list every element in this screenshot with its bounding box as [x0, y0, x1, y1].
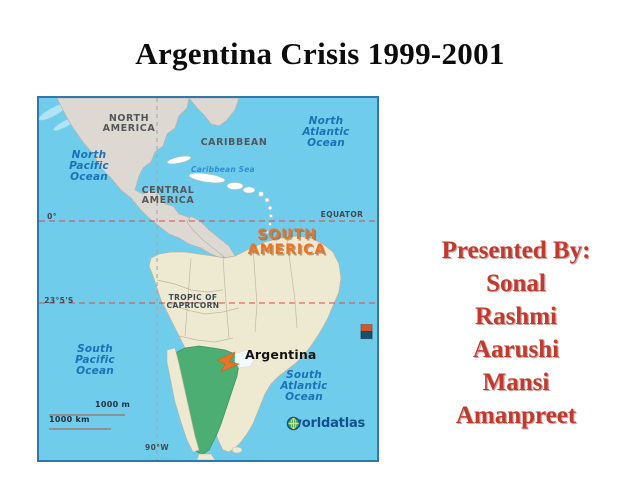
worldatlas-label: worldatlas	[290, 416, 365, 431]
americas-map: NORTH AMERICA North Pacific Ocean CENTRA…	[37, 96, 379, 462]
presenter-name-4: Mansi	[398, 366, 634, 399]
map-canvas: NORTH AMERICA North Pacific Ocean CENTRA…	[39, 98, 377, 460]
map-marker-icon	[360, 324, 373, 340]
page-title: Argentina Crisis 1999-2001	[0, 36, 640, 72]
presenter-name-1: Sonal	[398, 267, 634, 300]
presenter-name-2: Rashmi	[398, 300, 634, 333]
presenter-name-5: Amanpreet	[398, 399, 634, 432]
presented-by-heading: Presented By:	[398, 234, 634, 267]
map-vector-graphic	[39, 98, 377, 460]
presenter-name-3: Aarushi	[398, 333, 634, 366]
presenter-list: Presented By: Sonal Rashmi Aarushi Mansi…	[398, 234, 634, 432]
scale-bar-km	[49, 428, 111, 430]
scale-bar-miles	[49, 414, 125, 416]
worldatlas-attribution: worldatlas	[286, 416, 365, 431]
